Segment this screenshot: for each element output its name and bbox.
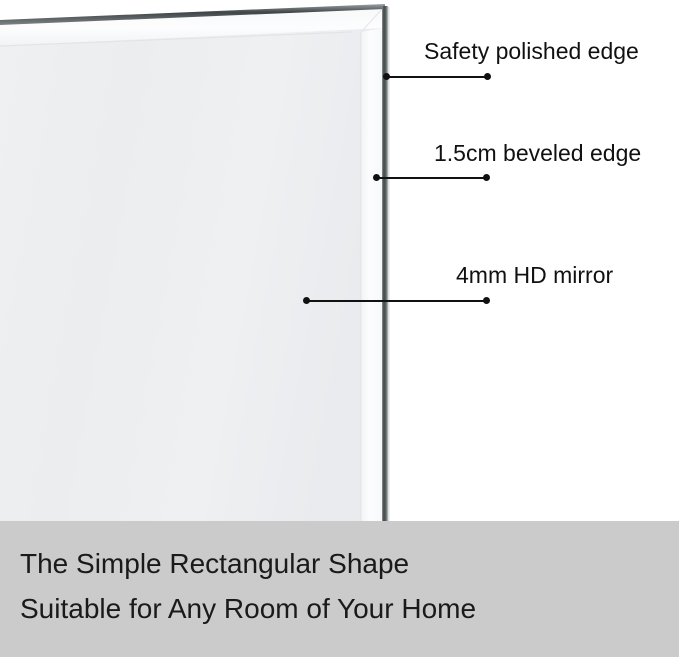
callout-line-beveled-edge — [375, 177, 486, 179]
callout-dot-right-safety-polished-edge — [484, 73, 491, 80]
callout-line-hd-mirror — [306, 300, 486, 302]
callout-label-hd-mirror: 4mm HD mirror — [456, 262, 613, 288]
caption-banner: The Simple Rectangular Shape Suitable fo… — [0, 521, 679, 657]
callout-line-safety-polished-edge — [385, 76, 487, 78]
caption-line-1: The Simple Rectangular Shape — [20, 548, 409, 580]
callout-dot-right-hd-mirror — [483, 297, 490, 304]
callout-dot-left-safety-polished-edge — [383, 73, 390, 80]
caption-line-2: Suitable for Any Room of Your Home — [20, 593, 476, 625]
callout-dot-right-beveled-edge — [483, 174, 490, 181]
callout-dot-left-hd-mirror — [303, 297, 310, 304]
mirror-panel-graphic — [0, 0, 679, 521]
callout-dot-left-beveled-edge — [373, 174, 380, 181]
callout-label-safety-polished-edge: Safety polished edge — [424, 38, 639, 64]
mirror-feature-diagram: Safety polished edge 1.5cm beveled edge … — [0, 0, 679, 657]
product-illustration-area: Safety polished edge 1.5cm beveled edge … — [0, 0, 679, 521]
callout-label-beveled-edge: 1.5cm beveled edge — [434, 140, 641, 166]
